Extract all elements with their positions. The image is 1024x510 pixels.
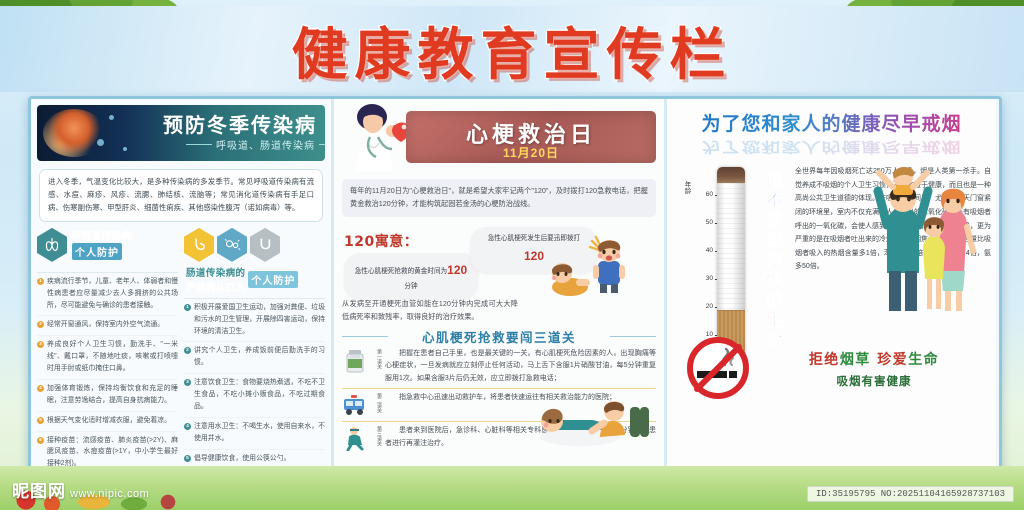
lungs-icon: [37, 228, 67, 262]
bulletin-board: 预防冬季传染病 呼吸道、肠道传染病 进入冬季，气温变化比较大，是多种传染病的多发…: [28, 96, 1002, 474]
doctor-illustration-icon: [342, 103, 416, 173]
bubble-1-number: 120: [447, 263, 467, 277]
list-item: 3养成良好个人卫生习惯，勤洗手、"一米线"、戴口罩，不随地吐痰，咳嗽或打喷嚏时用…: [37, 339, 178, 380]
section-120-meaning: 120寓意： 急性心肌梗死抢救的黄金时间为120分钟 急性心肌梗死发生后要迅即拨…: [342, 221, 656, 295]
list-number: 4: [37, 385, 44, 392]
decor-dot: [109, 115, 114, 120]
left-panel-intro-text: 进入冬季，气温变化比较大，是多种传染病的多发季节。常见呼吸道传染病有流感、水痘、…: [39, 169, 323, 222]
respiratory-illustration-icon: [43, 109, 105, 157]
respiratory-tags: 呼吸道传染病 个人防护: [70, 228, 131, 260]
divider: [37, 272, 178, 273]
column-intestinal: 肠道传染病的 严防病从口入 个人防护 1积极开展爱国卫生运动，加强对粪便、垃圾和…: [184, 228, 325, 471]
mid-panel-intro-text: 每年的11月20日为"心梗救治日"，就是希望大家牢记两个"120"，及时拨打12…: [342, 179, 656, 217]
cigarette-slogan-main: 请不要燃烧你的: [762, 171, 782, 311]
gate-text-1: 把握在患者自己手里，也是最关键的一关。有心肌梗死危险因素的人，出现胸痛等心梗症状…: [385, 348, 656, 386]
watermark-url: www.nipic.com: [70, 488, 149, 502]
no-smoking-icon: [685, 335, 751, 401]
slogan-smoking-harmful: 吸烟有害健康: [759, 373, 989, 389]
scale-tick: 40: [706, 247, 713, 254]
label-120-meaning: 120寓意：: [344, 231, 418, 251]
slogan-life: 生命: [908, 352, 939, 368]
intestinal-tags: 肠道传染病的 严防病从口入: [184, 265, 245, 294]
bubble-1-pre: 急性心肌梗死抢救的黄金时间为: [355, 268, 447, 275]
list-text: 注意饮食卫生：食物要烧热煮透，不吃不卫生食品，不吃小摊小贩食品，不吃过期食品。: [194, 379, 325, 410]
list-text: 接种疫苗：流感疫苗、肺炎疫苗(>2Y)、麻腮风疫苗、水痘疫苗(>1Y，中小学生最…: [47, 437, 178, 468]
gate-label-2: 第二道关: [372, 392, 381, 413]
tag-personal-protection-b: 个人防护: [248, 271, 298, 288]
list-text: 根据天气变化适时增减衣服，避免着凉。: [47, 417, 171, 424]
gate-item-1: 第一道关 把握在患者自己手里，也是最关键的一关。有心肌梗死危险因素的人，出现胸痛…: [342, 348, 656, 390]
cpr-illustration-icon: [534, 391, 654, 449]
intestine-icon: [250, 228, 280, 262]
respiratory-tip-list: 1疾病流行季节，儿童、老年人、体弱者和慢性病患者应尽量减少去人多拥挤的公共场所，…: [37, 276, 178, 471]
list-number: 1: [37, 278, 44, 285]
left-panel-subtitle: 呼吸道、肠道传染病: [216, 137, 315, 152]
panel-heart-attack-day: 心梗救治日 11月20日 每年的11月20日为"心梗救治日"，就是希望大家牢记两…: [334, 99, 667, 471]
medicine-bottle-icon: [342, 348, 368, 374]
list-text: 积极开展爱国卫生运动，加强对粪便、垃圾和污水的卫生管理，开展除四害运动，保持环境…: [194, 304, 325, 335]
list-text: 倡导健康饮食，使用公筷公勺。: [194, 455, 290, 462]
column-respiratory: 呼吸道传染病 个人防护 1疾病流行季节，儿童、老年人、体弱者和慢性病患者应尽量减…: [37, 228, 178, 471]
right-panel-main: 年龄 60 50 40 30 20 10 0: [667, 165, 996, 395]
stomach-icon: [184, 228, 214, 262]
list-number: 4: [184, 423, 191, 430]
list-number: 1: [184, 304, 191, 311]
bubble-1-post: 分钟: [404, 283, 417, 290]
scale-tick: 20: [706, 303, 713, 310]
list-number: 5: [37, 417, 44, 424]
section-title-three-gates: 心肌梗死抢救要闯三道关: [342, 327, 656, 346]
decor-dot: [97, 139, 104, 146]
cigarette-paper: [717, 183, 745, 311]
list-text: 疾病流行季节，儿童、老年人、体弱者和慢性病患者应尽量减少去人多拥挤的公共场所，尽…: [47, 278, 178, 309]
panel-quit-smoking: 为了您和家人的健康尽早戒烟 为了您和家人的健康尽早戒烟 年龄 60 50 40 …: [667, 99, 996, 471]
list-item: 5根据天气变化适时增减衣服，避免着凉。: [37, 415, 178, 432]
list-text: 经常开窗通风，保持室内外空气流通。: [47, 321, 164, 328]
slogan-cherish: 珍爱: [877, 352, 908, 368]
child-kneeling-illustration-icon: [548, 261, 592, 297]
list-item: 2经常开窗通风，保持室内外空气流通。: [37, 319, 178, 336]
germs-icon: [217, 228, 247, 262]
slogan-refuse: 拒绝: [809, 352, 840, 368]
left-panel-header: 预防冬季传染病 呼吸道、肠道传染病: [37, 105, 325, 161]
intestinal-tip-list: 1积极开展爱国卫生运动，加强对粪便、垃圾和污水的卫生管理，开展除四害运动，保持环…: [184, 302, 325, 471]
decor-dot: [123, 147, 127, 151]
bubble-2-pre: 急性心肌梗死发生后要迅即拨打: [488, 235, 580, 242]
list-item: 2讲究个人卫生，养成饭前便后勤洗手的习惯。: [184, 345, 325, 374]
cigarette-slogan-life: 生命: [762, 311, 782, 351]
list-text: 加强体育锻炼，保持均衡饮食和充足的睡眠，注意劳逸结合，提高自身抗病能力。: [47, 385, 178, 404]
heart-attack-day-ribbon: 心梗救治日 11月20日: [406, 111, 656, 163]
list-item: 1疾病流行季节，儿童、老年人、体弱者和慢性病患者应尽量减少去人多拥挤的公共场所，…: [37, 276, 178, 317]
tag-respiratory-disease: 呼吸道传染病: [72, 228, 131, 242]
page-title: 健康教育宣传栏: [0, 10, 1024, 91]
poster-canvas: 健康教育宣传栏 预防冬季传染病 呼吸道、肠道传染病 进入冬季，气温变化比较大，是…: [0, 0, 1024, 510]
mid-panel-date: 11月20日: [406, 144, 656, 161]
list-number: 3: [37, 341, 44, 348]
list-text: 讲究个人卫生，养成饭前便后勤洗手的习惯。: [194, 347, 325, 366]
slogan-tobacco: 烟草: [840, 352, 871, 368]
gate-label-1: 第一道关: [372, 348, 381, 369]
left-panel-columns: 呼吸道传染病 个人防护 1疾病流行季节，儿童、老年人、体弱者和慢性病患者应尽量减…: [37, 228, 325, 471]
footer-strip: 昵图网 www.nipic.com ID:35195795 NO:2025110…: [0, 466, 1024, 510]
list-item: 1积极开展爱国卫生运动，加强对粪便、垃圾和污水的卫生管理，开展除四害运动，保持环…: [184, 302, 325, 343]
list-number: 2: [184, 347, 191, 354]
mid-panel-body-text: 从发病至开通梗死血管如能在120分钟内完成可大大降低病死率和致残率，取得良好的治…: [342, 297, 518, 324]
right-panel-body-text: 全世界每年因吸烟死亡达250万人之多，烟是人类第一杀手。自觉养成不吸烟的个人卫生…: [795, 165, 991, 274]
respiratory-header-row: 呼吸道传染病 个人防护: [37, 228, 178, 268]
list-item: 4加强体育锻炼，保持均衡饮食和充足的睡眠，注意劳逸结合，提高自身抗病能力。: [37, 383, 178, 412]
list-number: 5: [184, 455, 191, 462]
mid-panel-header: 心梗救治日 11月20日: [340, 103, 658, 175]
child-standing-illustration-icon: [588, 235, 628, 293]
speech-bubble-golden-time: 急性心肌梗死抢救的黄金时间为120分钟: [344, 253, 478, 299]
list-number: 2: [37, 321, 44, 328]
slogan-refuse-tobacco: 拒绝烟草 珍爱生命: [759, 349, 989, 369]
divider: [184, 298, 325, 299]
left-panel-title: 预防冬季传染病: [163, 109, 317, 138]
image-id-label: ID:35195795 NO:20251104165928737103: [807, 486, 1014, 502]
right-panel-title-reflection: 为了您和家人的健康尽早戒烟: [667, 137, 996, 157]
cigarette-ash: [717, 167, 745, 183]
scale-tick: 50: [706, 219, 713, 226]
watermark-logo: 昵图网: [12, 477, 66, 502]
tag-intestinal-disease: 肠道传染病的: [186, 265, 245, 279]
right-panel-title: 为了您和家人的健康尽早戒烟: [667, 109, 996, 136]
doctor-running-icon: [342, 425, 368, 451]
cigarette-slogan: 请不要燃烧你的生命: [751, 171, 785, 351]
list-item: 4注意用水卫生：不喝生水，使用自来水，不使用井水。: [184, 421, 325, 450]
tag-prevent-oral-entry: 严防病从口入: [186, 280, 245, 294]
scale-tick: 60: [706, 191, 713, 198]
watermark: 昵图网 www.nipic.com: [12, 477, 149, 502]
list-text: 注意用水卫生：不喝生水，使用自来水，不使用井水。: [194, 423, 325, 442]
bubble-2-number: 120: [524, 249, 544, 263]
intestinal-header-row: [184, 228, 325, 268]
tag-personal-protection: 个人防护: [72, 243, 122, 260]
gate-label-3: 第三道关: [372, 425, 381, 446]
list-number: 3: [184, 379, 191, 386]
list-number: 6: [37, 437, 44, 444]
ambulance-icon: [342, 392, 368, 418]
scale-tick: 30: [706, 275, 713, 282]
list-item: 3注意饮食卫生：食物要烧热煮透，不吃不卫生食品，不吃小摊小贩食品，不吃过期食品。: [184, 377, 325, 418]
panel-winter-infectious-disease: 预防冬季传染病 呼吸道、肠道传染病 进入冬季，气温变化比较大，是多种传染病的多发…: [31, 99, 334, 471]
list-text: 养成良好个人卫生习惯，勤洗手、"一米线"、戴口罩，不随地吐痰，咳嗽或打喷嚏时用手…: [47, 341, 178, 372]
